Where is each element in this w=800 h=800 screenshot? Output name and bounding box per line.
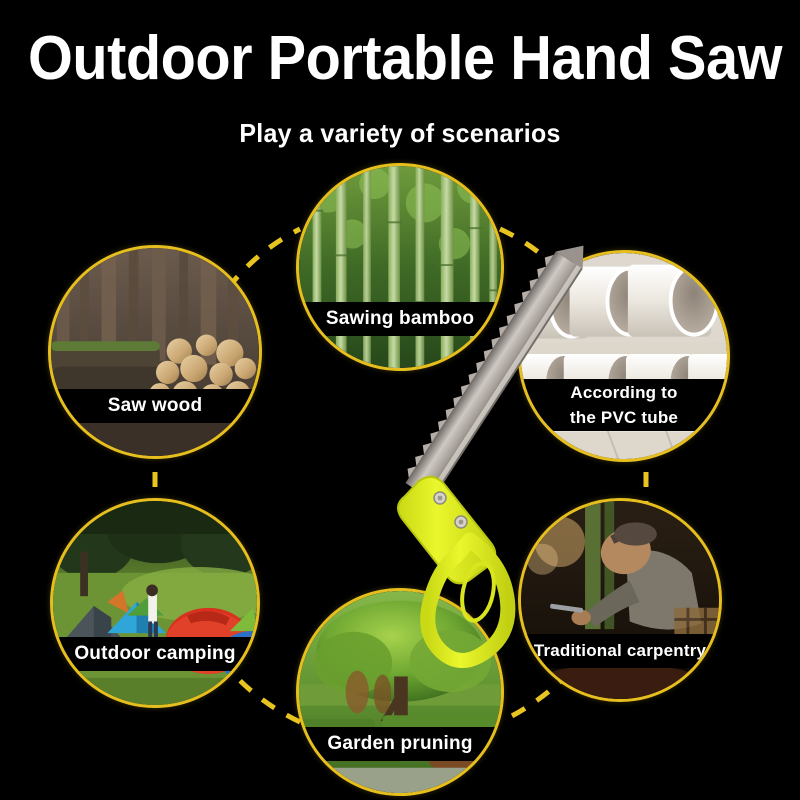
scenario-traditional-carpentry[interactable]: Traditional carpentry	[518, 498, 722, 702]
traditional-carpentry-photo	[521, 501, 719, 699]
sawing-bamboo-caption: Sawing bamboo	[299, 302, 501, 336]
outdoor-camping-photo	[53, 501, 257, 705]
infographic-canvas: Outdoor Portable Hand Saw Play a variety…	[0, 0, 800, 800]
outdoor-camping-caption: Outdoor camping	[53, 637, 257, 671]
handle-rivets	[434, 492, 467, 528]
scenario-pvc-tube[interactable]: According to the PVC tube	[518, 250, 730, 462]
pvc-tube-caption: According to the PVC tube	[521, 379, 727, 431]
traditional-carpentry-caption: Traditional carpentry	[521, 634, 719, 668]
garden-pruning-caption: Garden pruning	[299, 727, 501, 761]
saw-wood-photo	[51, 248, 259, 456]
scenario-saw-wood[interactable]: Saw wood	[48, 245, 262, 459]
garden-pruning-photo	[299, 591, 501, 793]
scenario-sawing-bamboo[interactable]: Sawing bamboo	[296, 163, 504, 371]
saw-wood-caption: Saw wood	[51, 389, 259, 423]
scenario-garden-pruning[interactable]: Garden pruning	[296, 588, 504, 796]
page-title: Outdoor Portable Hand Saw	[28, 28, 772, 90]
sawing-bamboo-photo	[299, 166, 501, 368]
scenario-outdoor-camping[interactable]: Outdoor camping	[50, 498, 260, 708]
page-subtitle: Play a variety of scenarios	[16, 118, 784, 148]
